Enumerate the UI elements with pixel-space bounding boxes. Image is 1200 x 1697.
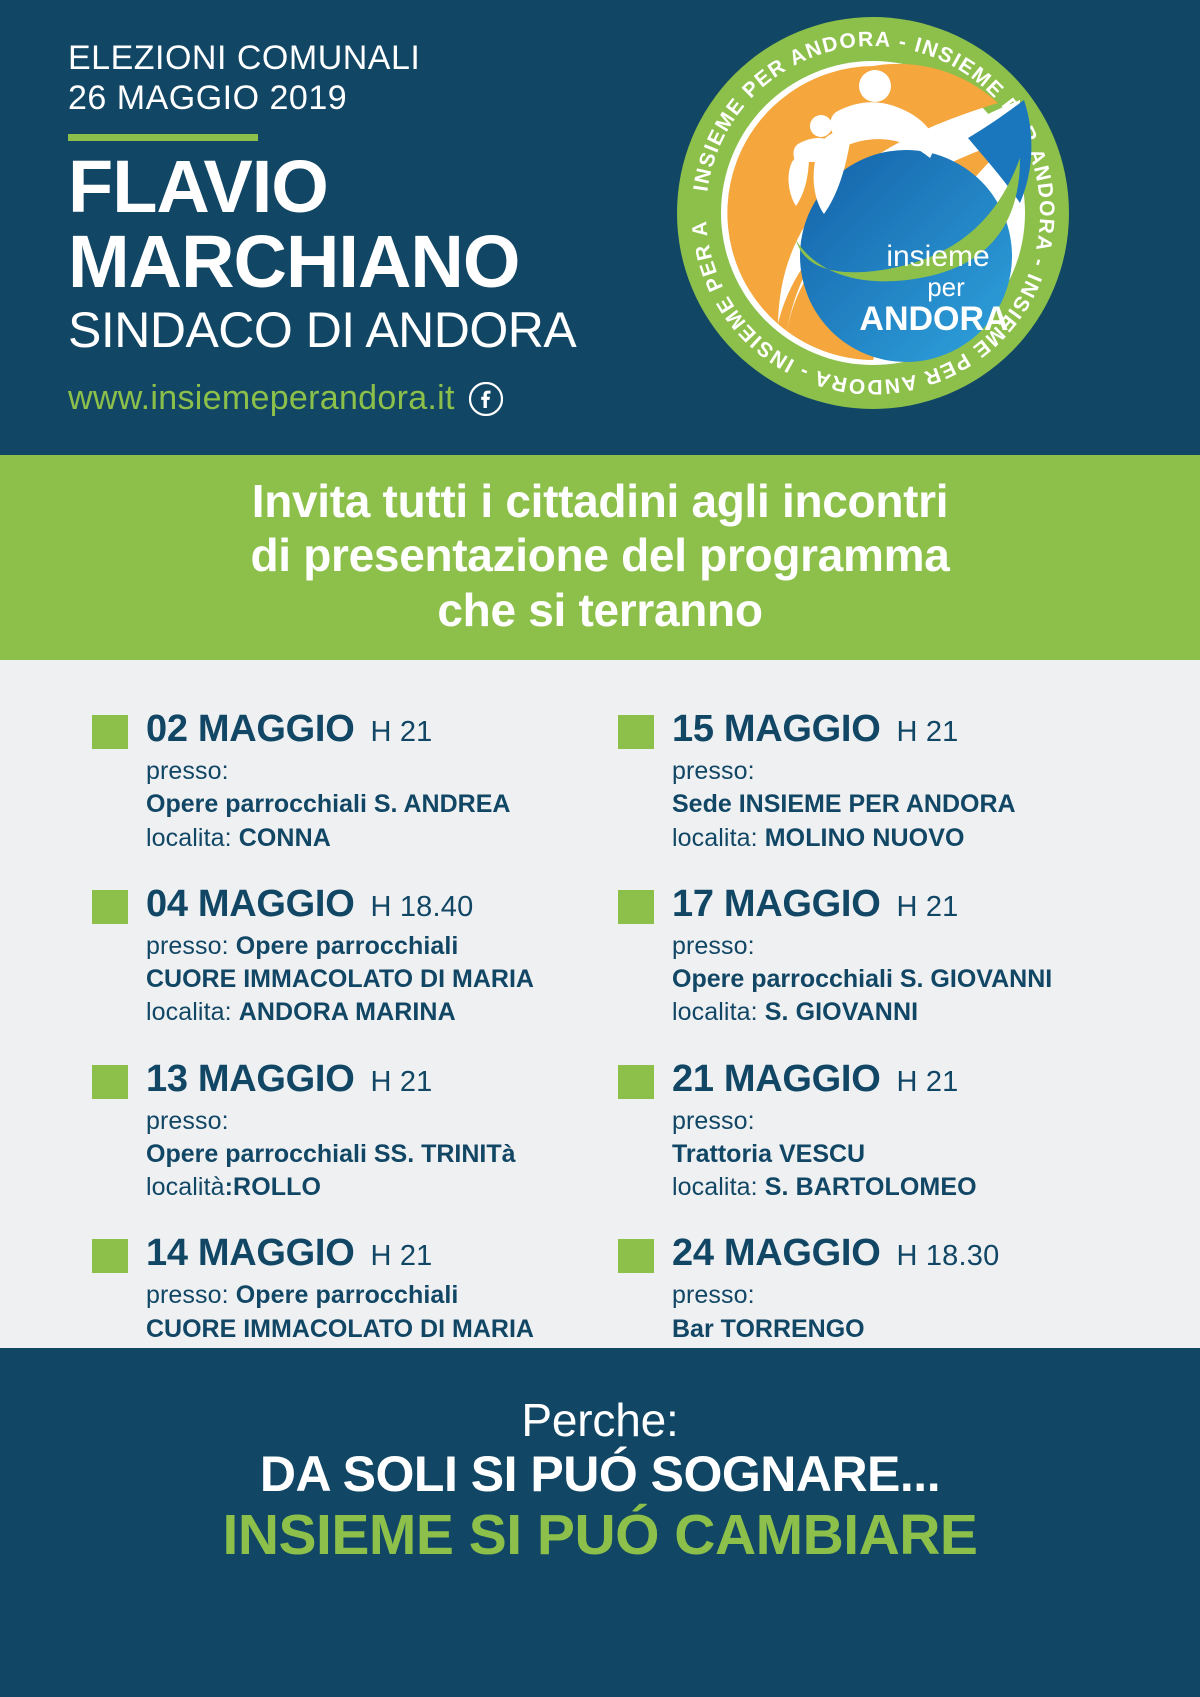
event-locality-row: localita: CONNA (146, 822, 592, 855)
candidate-role: SINDACO DI ANDORA (68, 303, 708, 357)
invitation-banner: Invita tutti i cittadini agli incontri d… (0, 455, 1200, 660)
event-time: H 21 (370, 1240, 432, 1273)
event-venue: Trattoria VESCU (672, 1138, 1118, 1171)
event-bullet-icon (92, 1065, 128, 1099)
event-locality-value: :ROLLO (225, 1173, 321, 1201)
events-grid: 02 MAGGIO H 21 presso: Opere parrocchial… (88, 708, 1118, 1379)
event-bullet-icon (92, 890, 128, 924)
event-bullet-icon (618, 715, 654, 749)
event-time: H 18.40 (370, 891, 473, 924)
event-presso-label: presso: (146, 1281, 236, 1309)
event-heading: 13 MAGGIO H 21 (146, 1058, 592, 1101)
event-venue: Opere parrocchiali S. ANDREA (146, 788, 592, 821)
event-date: 17 MAGGIO (672, 883, 880, 926)
event-venue: Sede INSIEME PER ANDORA (672, 788, 1118, 821)
event-presso-label: presso: (672, 1279, 1118, 1312)
poster-footer: Perche: DA SOLI SI PUÓ SOGNARE... INSIEM… (0, 1348, 1200, 1697)
website-row: www.insiemeperandora.it (68, 379, 708, 418)
event-venue: Opere parrocchiali S. GIOVANNI (672, 963, 1118, 996)
event-item: 17 MAGGIO H 21 presso: Opere parrocchial… (614, 883, 1118, 1030)
event-locality-value: S. GIOVANNI (765, 998, 918, 1026)
event-presso-label: presso: (672, 1105, 1118, 1138)
event-locality-row: localita: MOLINO NUOVO (672, 822, 1118, 855)
candidate-first-name: FLAVIO (68, 151, 708, 222)
green-rule-divider (68, 134, 258, 141)
event-locality-value: MOLINO NUOVO (765, 824, 965, 852)
candidate-last-name: MARCHIANO (68, 226, 708, 297)
event-item: 02 MAGGIO H 21 presso: Opere parrocchial… (88, 708, 592, 855)
event-heading: 02 MAGGIO H 21 (146, 708, 592, 751)
event-venue: Bar TORRENGO (672, 1313, 1118, 1346)
event-heading: 17 MAGGIO H 21 (672, 883, 1118, 926)
event-presso-inline: Opere parrocchiali (236, 932, 459, 960)
event-presso-label: presso: (672, 755, 1118, 788)
event-venue: Opere parrocchiali SS. TRINITà (146, 1138, 592, 1171)
event-presso-label: presso: (672, 930, 1118, 963)
event-bullet-icon (618, 890, 654, 924)
event-locality-label: località (146, 1173, 225, 1201)
event-presso-row: presso: Opere parrocchiali (146, 1279, 592, 1312)
footer-slogan-line1: DA SOLI SI PUÓ SOGNARE... (260, 1446, 940, 1502)
event-presso-inline: Opere parrocchiali (236, 1281, 459, 1309)
event-locality-value: ANDORA MARINA (239, 998, 456, 1026)
event-date: 14 MAGGIO (146, 1232, 354, 1275)
logo-line1: insieme (886, 240, 989, 273)
events-section: 02 MAGGIO H 21 presso: Opere parrocchial… (0, 660, 1200, 1348)
event-locality-label: localita: (672, 824, 765, 852)
logo-line2: per (927, 272, 965, 302)
event-date: 24 MAGGIO (672, 1232, 880, 1275)
event-presso-row: presso: Opere parrocchiali (146, 930, 592, 963)
event-locality-label: localita: (672, 1173, 765, 1201)
event-date: 15 MAGGIO (672, 708, 880, 751)
event-locality-row: localita: ANDORA MARINA (146, 996, 592, 1029)
event-locality-row: localita: S. GIOVANNI (672, 996, 1118, 1029)
campaign-poster: ELEZIONI COMUNALI 26 MAGGIO 2019 FLAVIO … (0, 0, 1200, 1697)
event-item: 04 MAGGIO H 18.40 presso: Opere parrocch… (88, 883, 592, 1030)
header-text-block: ELEZIONI COMUNALI 26 MAGGIO 2019 FLAVIO … (68, 38, 708, 418)
event-locality-label: localita: (146, 998, 239, 1026)
logo-line3: ANDORA (859, 300, 1008, 338)
event-time: H 18.30 (896, 1240, 999, 1273)
event-heading: 04 MAGGIO H 18.40 (146, 883, 592, 926)
event-date: 13 MAGGIO (146, 1058, 354, 1101)
footer-slogan-line2: INSIEME SI PUÓ CAMBIARE (223, 1504, 978, 1568)
event-item: 13 MAGGIO H 21 presso: Opere parrocchial… (88, 1058, 592, 1205)
event-heading: 14 MAGGIO H 21 (146, 1232, 592, 1275)
event-time: H 21 (896, 716, 958, 749)
event-presso-label: presso: (146, 755, 592, 788)
invitation-text: Invita tutti i cittadini agli incontri d… (250, 474, 949, 641)
election-eyebrow: ELEZIONI COMUNALI 26 MAGGIO 2019 (68, 38, 708, 118)
event-locality-row: località:ROLLO (146, 1171, 592, 1204)
event-locality-value: S. BARTOLOMEO (765, 1173, 977, 1201)
event-locality-label: localita: (672, 998, 765, 1026)
event-venue: CUORE IMMACOLATO DI MARIA (146, 963, 592, 996)
event-heading: 15 MAGGIO H 21 (672, 708, 1118, 751)
event-bullet-icon (92, 715, 128, 749)
event-time: H 21 (896, 1066, 958, 1099)
event-date: 02 MAGGIO (146, 708, 354, 751)
event-time: H 21 (896, 891, 958, 924)
event-date: 04 MAGGIO (146, 883, 354, 926)
event-presso-label: presso: (146, 932, 236, 960)
event-locality-row: localita: S. BARTOLOMEO (672, 1171, 1118, 1204)
event-time: H 21 (370, 1066, 432, 1099)
event-date: 21 MAGGIO (672, 1058, 880, 1101)
event-heading: 21 MAGGIO H 21 (672, 1058, 1118, 1101)
event-time: H 21 (370, 716, 432, 749)
insieme-per-andora-logo: INSIEME PER ANDORA - INSIEME PER ANDORA … (668, 8, 1078, 418)
event-bullet-icon (618, 1065, 654, 1099)
event-bullet-icon (618, 1239, 654, 1273)
events-column-right: 15 MAGGIO H 21 presso: Sede INSIEME PER … (614, 708, 1118, 1379)
event-heading: 24 MAGGIO H 18.30 (672, 1232, 1118, 1275)
event-locality-label: localita: (146, 824, 239, 852)
event-item: 15 MAGGIO H 21 presso: Sede INSIEME PER … (614, 708, 1118, 855)
facebook-icon[interactable] (469, 382, 503, 416)
poster-header: ELEZIONI COMUNALI 26 MAGGIO 2019 FLAVIO … (0, 0, 1200, 455)
event-presso-label: presso: (146, 1105, 592, 1138)
event-bullet-icon (92, 1239, 128, 1273)
event-locality-value: CONNA (239, 824, 331, 852)
events-column-left: 02 MAGGIO H 21 presso: Opere parrocchial… (88, 708, 592, 1379)
event-venue: CUORE IMMACOLATO DI MARIA (146, 1313, 592, 1346)
website-link[interactable]: www.insiemeperandora.it (68, 379, 455, 418)
footer-why-label: Perche: (521, 1396, 678, 1444)
event-item: 21 MAGGIO H 21 presso: Trattoria VESCU l… (614, 1058, 1118, 1205)
